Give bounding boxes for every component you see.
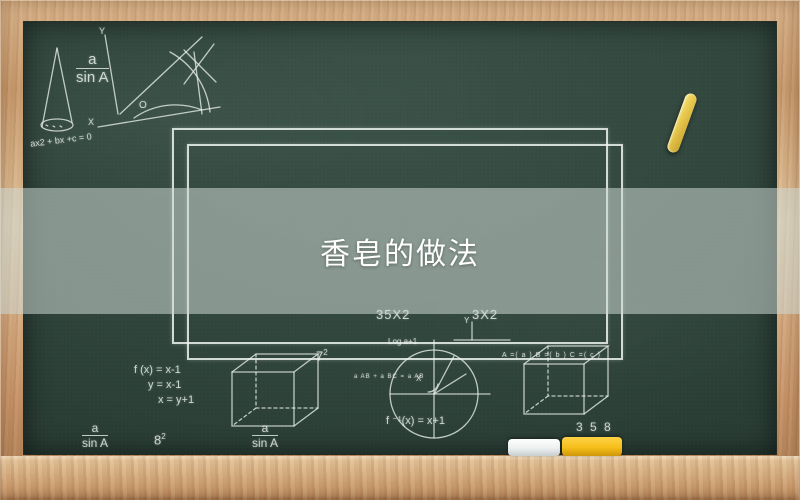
- formula-x-eq: x = y+1: [158, 394, 194, 406]
- cube2-hidden-diagonal: [524, 396, 548, 414]
- cube-front-face: [232, 372, 294, 426]
- label-axis-y: Y: [99, 26, 105, 36]
- chalk-tray: [0, 456, 800, 500]
- page-title: 香皂的做法: [320, 229, 480, 273]
- screenshot-root: a sin A ax2 + bx +c = 0 Y X O 35X2 3X2 L…: [0, 0, 800, 500]
- cube-right-face: [294, 354, 318, 426]
- label-small-axis-x: X: [416, 374, 421, 383]
- formula-a-over-sinA-mid: a sin A: [252, 422, 278, 450]
- cone-right-edge: [57, 48, 72, 122]
- label-axis-x: X: [88, 117, 94, 127]
- formula-fx: f (x) = x-1: [134, 364, 181, 376]
- pie-angle-arc: [428, 384, 438, 392]
- yellow-chalk-icon: [562, 437, 622, 456]
- cone-base-hatch: [46, 125, 64, 128]
- formula-f-inverse: f ⁻¹(x) = x+1: [386, 414, 445, 427]
- arith-row-1: 3 5 8: [576, 420, 613, 434]
- formula-y-eq: y = x-1: [148, 379, 181, 391]
- white-chalk-icon: [508, 439, 560, 456]
- tray-wood-grain: [0, 456, 800, 500]
- formula-a-over-sinA-left: a sin A: [82, 422, 108, 450]
- cube-hidden-edges: [256, 354, 318, 408]
- note-ab-bc: a AB + a BC = a AB: [354, 374, 424, 380]
- label-angle-o: O: [139, 100, 147, 111]
- cone-left-edge: [42, 48, 57, 127]
- note-eight-squared: 82: [154, 432, 166, 447]
- formula-a-over-sinA: a sin A: [76, 52, 109, 86]
- caption-band: 香皂的做法: [0, 188, 800, 314]
